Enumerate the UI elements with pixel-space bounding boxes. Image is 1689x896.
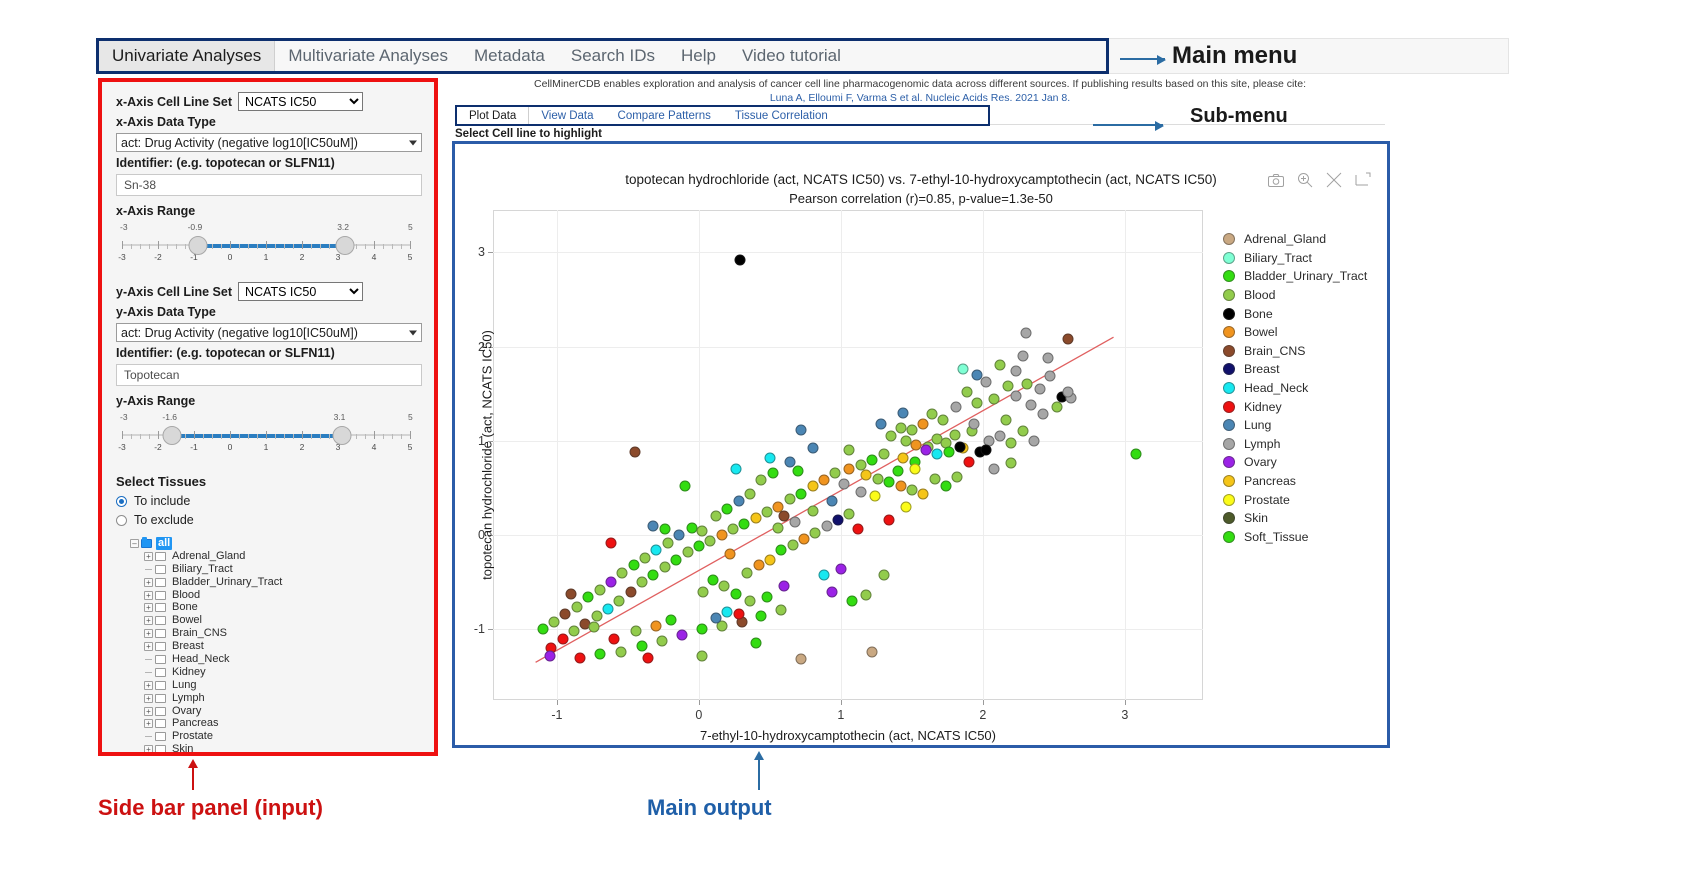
slider-tick	[149, 434, 150, 439]
legend-label: Head_Neck	[1244, 381, 1308, 395]
legend-color-swatch	[1223, 326, 1235, 338]
scatter-point[interactable]	[796, 654, 807, 665]
annotation-arrow-main-output	[758, 760, 760, 790]
scatter-point[interactable]	[938, 415, 949, 426]
pan-icon[interactable]	[1326, 172, 1342, 188]
scatter-point[interactable]	[1021, 379, 1032, 390]
tissue-tree-node[interactable]: +Pancreas	[116, 717, 422, 730]
scatter-point[interactable]	[989, 394, 1000, 405]
scatter-point[interactable]	[719, 580, 730, 591]
scatter-point[interactable]	[696, 624, 707, 635]
y-axis-identifier-input[interactable]	[116, 364, 422, 386]
scatter-point[interactable]	[821, 520, 832, 531]
tissue-tree-node[interactable]: +Breast	[116, 640, 422, 653]
slider-tick-label: 4	[372, 252, 377, 262]
tissue-tree-node[interactable]: Biliary_Tract	[116, 563, 422, 576]
y-range-max-bound: 5	[408, 412, 413, 422]
scatter-point[interactable]	[594, 648, 605, 659]
scatter-point[interactable]	[696, 650, 707, 661]
scatter-point[interactable]	[574, 652, 585, 663]
scatter-point[interactable]	[926, 409, 937, 420]
scatter-point[interactable]	[980, 377, 991, 388]
plot-title: topotecan hydrochloride (act, NCATS IC50…	[455, 172, 1387, 187]
scatter-point[interactable]	[1034, 384, 1045, 395]
scatter-point[interactable]	[807, 443, 818, 454]
scatter-point[interactable]	[730, 464, 741, 475]
scatter-point[interactable]	[898, 452, 909, 463]
scatter-point[interactable]	[989, 464, 1000, 475]
expand-icon[interactable]: +	[144, 552, 153, 561]
scatter-point[interactable]	[787, 539, 798, 550]
scatter-point[interactable]	[838, 479, 849, 490]
scatter-point[interactable]	[722, 607, 733, 618]
scatter-point[interactable]	[615, 646, 626, 657]
scatter-point[interactable]	[1051, 401, 1062, 412]
scatter-point[interactable]	[608, 633, 619, 644]
scatter-point[interactable]	[733, 496, 744, 507]
tissue-tree-node[interactable]: +Adrenal_Gland	[116, 550, 422, 563]
scatter-point[interactable]	[878, 449, 889, 460]
scatter-point[interactable]	[884, 515, 895, 526]
scatter-point[interactable]	[762, 507, 773, 518]
scatter-point[interactable]	[895, 422, 906, 433]
y-axis-data-type-select[interactable]: act: Drug Activity (negative log10[IC50u…	[116, 323, 422, 342]
sub-menu-tab-plot-data[interactable]: Plot Data	[457, 107, 529, 124]
scatter-point[interactable]	[847, 596, 858, 607]
scatter-point[interactable]	[710, 511, 721, 522]
scatter-point[interactable]	[776, 605, 787, 616]
scatter-point[interactable]	[1044, 370, 1055, 381]
slider-tick-label: 0	[228, 442, 233, 452]
scatter-point[interactable]	[583, 592, 594, 603]
expand-icon[interactable]: +	[144, 616, 153, 625]
scatter-point[interactable]	[884, 477, 895, 488]
scatter-point[interactable]	[698, 586, 709, 597]
scatter-point[interactable]	[969, 418, 980, 429]
scatter-point[interactable]	[557, 633, 568, 644]
y-axis-cell-line-set-select[interactable]: NCATS IC50	[238, 282, 363, 301]
scatter-point[interactable]	[1037, 409, 1048, 420]
scatter-point[interactable]	[628, 560, 639, 571]
scatter-point[interactable]	[872, 473, 883, 484]
scatter-point[interactable]	[779, 511, 790, 522]
scatter-point[interactable]	[867, 454, 878, 465]
scatter-point[interactable]	[833, 515, 844, 526]
scatter-point[interactable]	[566, 588, 577, 599]
expand-icon[interactable]: +	[144, 694, 153, 703]
expand-icon[interactable]: +	[144, 719, 153, 728]
scatter-point[interactable]	[630, 447, 641, 458]
scatter-point[interactable]	[784, 456, 795, 467]
tissue-tree-node[interactable]: +Blood	[116, 589, 422, 602]
scatter-point[interactable]	[963, 456, 974, 467]
scatter-point[interactable]	[1026, 400, 1037, 411]
expand-icon[interactable]: +	[144, 578, 153, 587]
scatter-point[interactable]	[544, 650, 555, 661]
scatter-point[interactable]	[725, 548, 736, 559]
legend-item[interactable]: Bone	[1223, 304, 1388, 323]
tab-label: Plot Data	[469, 110, 516, 122]
x-axis-data-type-select[interactable]: act: Drug Activity (negative log10[IC50u…	[116, 133, 422, 152]
scatter-point[interactable]	[735, 254, 746, 265]
scatter-point[interactable]	[1006, 437, 1017, 448]
x-slider-handle-low[interactable]	[188, 236, 207, 255]
slider-tick	[383, 244, 384, 249]
scatter-point[interactable]	[901, 501, 912, 512]
legend-item[interactable]: Adrenal_Gland	[1223, 230, 1388, 249]
scatter-point[interactable]	[793, 466, 804, 477]
scatter-point[interactable]	[753, 560, 764, 571]
annotation-main-output: Main output	[647, 795, 772, 821]
scatter-point[interactable]	[906, 424, 917, 435]
sub-menu-tab-compare-patterns[interactable]: Compare Patterns	[606, 107, 723, 124]
expand-icon[interactable]: +	[144, 629, 153, 638]
scatter-point[interactable]	[750, 637, 761, 648]
plot-axes-area[interactable]: -10123-10123 topotecan hydrochloride (ac…	[493, 210, 1203, 700]
scatter-point[interactable]	[639, 552, 650, 563]
scatter-point[interactable]	[827, 496, 838, 507]
zoom-in-icon[interactable]	[1297, 172, 1313, 188]
citation-line-2[interactable]: Luna A, Elloumi F, Varma S et al. Nuclei…	[455, 92, 1385, 104]
y-axis-label: topotecan hydrochloride (act, NCATS IC50…	[480, 330, 495, 580]
scatter-point[interactable]	[710, 613, 721, 624]
main-menu-tab-metadata[interactable]: Metadata	[461, 41, 558, 71]
scatter-point[interactable]	[662, 537, 673, 548]
tissue-tree-node-label: Skin	[170, 743, 195, 756]
slider-tick	[194, 431, 195, 439]
scatter-point[interactable]	[1043, 352, 1054, 363]
expand-icon[interactable]: +	[144, 642, 153, 651]
annotation-arrow-sub-menu	[1093, 124, 1163, 126]
scatter-point[interactable]	[827, 586, 838, 597]
scatter-point[interactable]	[708, 575, 719, 586]
radio-include-icon	[116, 496, 127, 507]
x-axis-cell-line-set-select[interactable]: NCATS IC50	[238, 92, 363, 111]
tissue-tree-node[interactable]: +Bladder_Urinary_Tract	[116, 576, 422, 589]
autoscale-icon[interactable]	[1355, 172, 1371, 188]
scatter-point[interactable]	[980, 445, 991, 456]
scatter-point[interactable]	[807, 505, 818, 516]
scatter-point[interactable]	[651, 620, 662, 631]
scatter-point[interactable]	[943, 447, 954, 458]
y-slider-handle-low[interactable]	[163, 426, 182, 445]
scatter-point[interactable]	[962, 386, 973, 397]
tissue-tree-node-label: Prostate	[170, 730, 215, 743]
scatter-point[interactable]	[1020, 328, 1031, 339]
scatter-point[interactable]	[892, 466, 903, 477]
tab-label: Tissue Correlation	[735, 110, 828, 122]
scatter-point[interactable]	[952, 471, 963, 482]
scatter-point[interactable]	[855, 486, 866, 497]
scatter-point[interactable]	[756, 611, 767, 622]
legend-item[interactable]: Lymph	[1223, 435, 1388, 454]
scatter-point[interactable]	[1006, 458, 1017, 469]
scatter-point[interactable]	[844, 445, 855, 456]
sub-menu-tab-tissue-correlation[interactable]: Tissue Correlation	[723, 107, 840, 124]
legend-label: Brain_CNS	[1244, 344, 1306, 358]
legend-label: Bladder_Urinary_Tract	[1244, 269, 1367, 283]
scatter-point[interactable]	[798, 533, 809, 544]
scatter-point[interactable]	[885, 431, 896, 442]
scatter-point[interactable]	[796, 488, 807, 499]
scatter-point[interactable]	[844, 509, 855, 520]
scatter-point[interactable]	[727, 524, 738, 535]
scatter-point[interactable]	[656, 635, 667, 646]
expand-icon[interactable]: +	[144, 603, 153, 612]
scatter-point[interactable]	[779, 580, 790, 591]
folder-icon	[141, 539, 152, 548]
expand-icon[interactable]: +	[144, 591, 153, 600]
scatter-point[interactable]	[742, 567, 753, 578]
scatter-point[interactable]	[637, 577, 648, 588]
scatter-point[interactable]	[1029, 435, 1040, 446]
scatter-point[interactable]	[568, 626, 579, 637]
x-axis-cell-line-set-label: x-Axis Cell Line Set	[116, 95, 232, 109]
scatter-point[interactable]	[909, 464, 920, 475]
scatter-point[interactable]	[852, 524, 863, 535]
scatter-point[interactable]	[784, 494, 795, 505]
scatter-point[interactable]	[739, 518, 750, 529]
folder-icon	[155, 603, 166, 612]
scatter-point[interactable]	[648, 569, 659, 580]
scatter-point[interactable]	[679, 481, 690, 492]
main-menu-tab-video-tutorial[interactable]: Video tutorial	[729, 41, 854, 71]
y-axis-range-slider[interactable]: -3 5 -1.6 3.1 -3-2-1012345	[116, 412, 416, 460]
legend-item[interactable]: Brain_CNS	[1223, 342, 1388, 361]
scatter-point[interactable]	[642, 652, 653, 663]
scatter-point[interactable]	[940, 481, 951, 492]
scatter-point[interactable]	[716, 530, 727, 541]
scatter-point[interactable]	[617, 567, 628, 578]
scatter-point[interactable]	[762, 592, 773, 603]
scatter-point[interactable]	[1017, 426, 1028, 437]
scatter-point[interactable]	[878, 569, 889, 580]
sub-menu-tab-view-data[interactable]: View Data	[529, 107, 605, 124]
scatter-point[interactable]	[918, 488, 929, 499]
scatter-point[interactable]	[861, 469, 872, 480]
tissue-tree-root[interactable]: – all	[116, 537, 422, 550]
legend-item[interactable]: Soft_Tissue	[1223, 528, 1388, 547]
scatter-point[interactable]	[614, 596, 625, 607]
tissue-tree-node[interactable]: +Lymph	[116, 692, 422, 705]
scatter-point[interactable]	[693, 541, 704, 552]
scatter-point[interactable]	[1010, 366, 1021, 377]
camera-icon[interactable]	[1268, 173, 1284, 187]
scatter-point[interactable]	[867, 646, 878, 657]
scatter-point[interactable]	[549, 616, 560, 627]
scatter-point[interactable]	[674, 530, 685, 541]
slider-tick-label: 5	[408, 442, 413, 452]
scatter-point[interactable]	[875, 418, 886, 429]
scatter-point[interactable]	[895, 481, 906, 492]
scatter-point[interactable]	[818, 475, 829, 486]
scatter-point[interactable]	[918, 418, 929, 429]
tissue-tree-node[interactable]: +Lung	[116, 679, 422, 692]
scatter-point[interactable]	[665, 614, 676, 625]
tissue-tree-node[interactable]: +Bowel	[116, 614, 422, 627]
scatter-point[interactable]	[810, 528, 821, 539]
x-tick-mark	[557, 700, 558, 705]
tissue-mode-exclude[interactable]: To exclude	[116, 513, 422, 527]
scatter-point[interactable]	[972, 398, 983, 409]
legend-color-swatch	[1223, 382, 1235, 394]
legend-item[interactable]: Bladder_Urinary_Tract	[1223, 267, 1388, 286]
scatter-point[interactable]	[537, 624, 548, 635]
scatter-point[interactable]	[790, 516, 801, 527]
scatter-point[interactable]	[949, 430, 960, 441]
scatter-point[interactable]	[745, 488, 756, 499]
slider-tick-label: 5	[408, 252, 413, 262]
scatter-point[interactable]	[631, 626, 642, 637]
scatter-point[interactable]	[818, 569, 829, 580]
tissue-tree-node[interactable]: Head_Neck	[116, 653, 422, 666]
scatter-point[interactable]	[745, 596, 756, 607]
scatter-point[interactable]	[835, 564, 846, 575]
main-menu-tab-help[interactable]: Help	[668, 41, 729, 71]
tissue-tree-node[interactable]: +Bone	[116, 601, 422, 614]
scatter-point[interactable]	[591, 611, 602, 622]
expand-icon[interactable]: +	[144, 745, 153, 754]
scatter-point[interactable]	[588, 622, 599, 633]
main-menu-tab-univariate-analyses[interactable]: Univariate Analyses	[99, 41, 275, 71]
legend-item[interactable]: Breast	[1223, 360, 1388, 379]
scatter-point[interactable]	[776, 545, 787, 556]
scatter-point[interactable]	[560, 609, 571, 620]
scatter-point[interactable]	[807, 481, 818, 492]
scatter-point[interactable]	[594, 584, 605, 595]
tissue-tree-node-label: Biliary_Tract	[170, 563, 235, 576]
x-axis-identifier-input[interactable]	[116, 174, 422, 196]
scatter-point[interactable]	[796, 424, 807, 435]
folder-icon	[155, 745, 166, 754]
legend-color-swatch	[1223, 345, 1235, 357]
legend-item[interactable]: Lung	[1223, 416, 1388, 435]
scatter-point[interactable]	[676, 629, 687, 640]
scatter-point[interactable]	[1010, 390, 1021, 401]
main-menu-tab-multivariate-analyses[interactable]: Multivariate Analyses	[275, 41, 461, 71]
sidebar-panel: x-Axis Cell Line Set NCATS IC50 x-Axis D…	[98, 78, 438, 756]
scatter-point[interactable]	[844, 464, 855, 475]
scatter-point[interactable]	[955, 441, 966, 452]
scatter-point[interactable]	[921, 445, 932, 456]
folder-icon	[155, 668, 166, 677]
legend-item[interactable]: Kidney	[1223, 397, 1388, 416]
scatter-point[interactable]	[733, 609, 744, 620]
scatter-point[interactable]	[994, 431, 1005, 442]
plot-modebar[interactable]	[1268, 172, 1371, 188]
scatter-point[interactable]	[730, 588, 741, 599]
legend-item[interactable]: Blood	[1223, 286, 1388, 305]
scatter-point[interactable]	[1063, 334, 1074, 345]
scatter-point[interactable]	[705, 535, 716, 546]
y-slider-handle-high[interactable]	[332, 426, 351, 445]
tissue-tree-node[interactable]: +Brain_CNS	[116, 627, 422, 640]
tissue-mode-include[interactable]: To include	[116, 494, 422, 508]
scatter-point[interactable]	[1131, 449, 1142, 460]
scatter-point[interactable]	[571, 601, 582, 612]
scatter-point[interactable]	[1017, 351, 1028, 362]
scatter-point[interactable]	[637, 641, 648, 652]
scatter-point[interactable]	[671, 554, 682, 565]
scatter-point[interactable]	[722, 503, 733, 514]
slider-tick	[374, 241, 375, 249]
legend-item[interactable]: Ovary	[1223, 453, 1388, 472]
legend-item[interactable]: Bowel	[1223, 323, 1388, 342]
x-slider-handle-high[interactable]	[336, 236, 355, 255]
scatter-point[interactable]	[932, 449, 943, 460]
tree-connector-icon	[144, 668, 153, 677]
scatter-point[interactable]	[682, 547, 693, 558]
legend-item[interactable]: Prostate	[1223, 490, 1388, 509]
legend-item[interactable]: Skin	[1223, 509, 1388, 528]
scatter-point[interactable]	[906, 484, 917, 495]
select-cell-line-label: Select Cell line to highlight	[455, 128, 602, 140]
plot-legend: Adrenal_GlandBiliary_TractBladder_Urinar…	[1223, 230, 1388, 546]
scatter-point[interactable]	[648, 520, 659, 531]
scatter-point[interactable]	[603, 603, 614, 614]
legend-item[interactable]: Biliary_Tract	[1223, 249, 1388, 268]
scatter-point[interactable]	[1000, 415, 1011, 426]
annotation-main-menu: Main menu	[1172, 42, 1297, 70]
expand-icon[interactable]: +	[144, 707, 153, 716]
x-axis-range-slider[interactable]: -3 5 -0.9 3.2 -3-2-1012345	[116, 222, 416, 270]
tissue-tree-node[interactable]: +Skin	[116, 743, 422, 756]
scatter-point[interactable]	[929, 473, 940, 484]
scatter-point[interactable]	[750, 513, 761, 524]
scatter-point[interactable]	[659, 562, 670, 573]
scatter-point[interactable]	[994, 360, 1005, 371]
scatter-point[interactable]	[830, 467, 841, 478]
slider-tick-label: -3	[118, 252, 126, 262]
main-menu-tab-search-ids[interactable]: Search IDs	[558, 41, 668, 71]
scatter-point[interactable]	[605, 577, 616, 588]
folder-icon	[155, 719, 166, 728]
scatter-point[interactable]	[861, 590, 872, 601]
scatter-point[interactable]	[696, 526, 707, 537]
slider-tick	[293, 244, 294, 249]
slider-tick	[239, 244, 240, 249]
scatter-point[interactable]	[659, 524, 670, 535]
tissue-tree: – all +Adrenal_GlandBiliary_Tract+Bladde…	[116, 537, 422, 756]
scatter-point[interactable]	[651, 545, 662, 556]
legend-item[interactable]: Head_Neck	[1223, 379, 1388, 398]
scatter-point[interactable]	[950, 401, 961, 412]
collapse-icon[interactable]: –	[130, 539, 139, 548]
scatter-point[interactable]	[1063, 386, 1074, 397]
tissue-tree-node[interactable]: Prostate	[116, 730, 422, 743]
slider-tick	[230, 241, 231, 249]
scatter-point[interactable]	[625, 586, 636, 597]
tissue-tree-node[interactable]: Kidney	[116, 666, 422, 679]
scatter-point[interactable]	[958, 364, 969, 375]
scatter-point[interactable]	[764, 452, 775, 463]
slider-tick	[149, 244, 150, 249]
scatter-point[interactable]	[605, 537, 616, 548]
tissue-tree-node[interactable]: +Ovary	[116, 705, 422, 718]
x-axis-identifier-label: Identifier: (e.g. topotecan or SLFN11)	[116, 156, 422, 170]
scatter-point[interactable]	[764, 554, 775, 565]
slider-tick	[329, 244, 330, 249]
expand-icon[interactable]: +	[144, 681, 153, 690]
scatter-point[interactable]	[898, 407, 909, 418]
x-tick-label: 0	[695, 708, 702, 722]
scatter-point[interactable]	[767, 467, 778, 478]
scatter-point[interactable]	[869, 490, 880, 501]
slider-tick	[293, 434, 294, 439]
scatter-point[interactable]	[756, 475, 767, 486]
legend-item[interactable]: Pancreas	[1223, 472, 1388, 491]
scatter-point[interactable]	[773, 522, 784, 533]
